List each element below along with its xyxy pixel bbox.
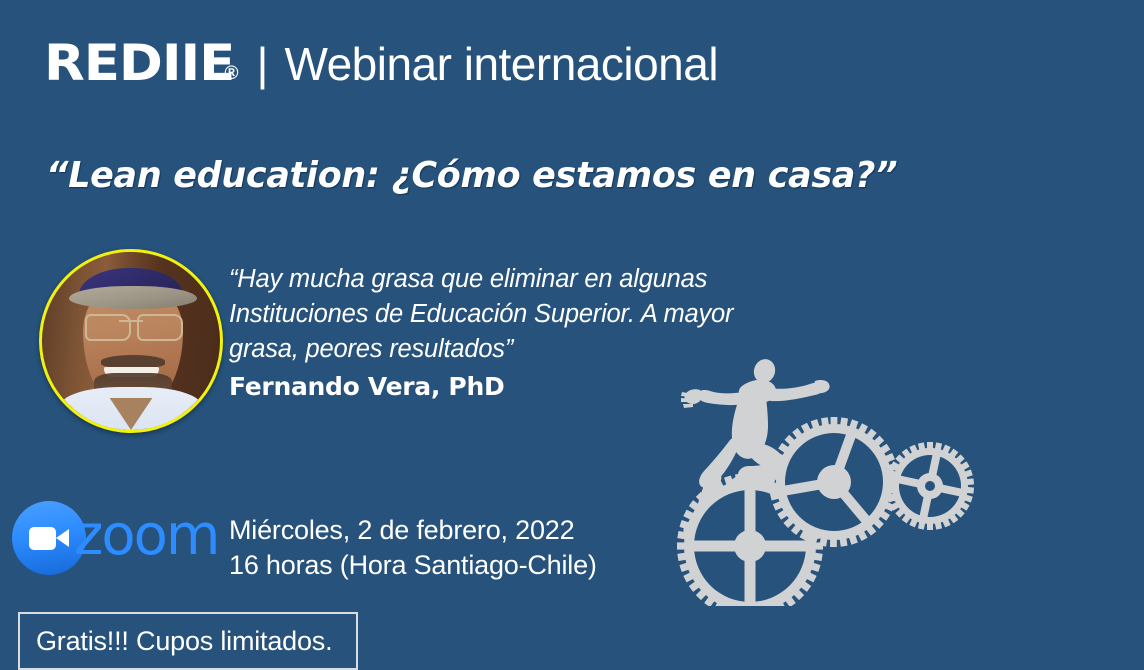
camera-body-shape	[29, 527, 56, 550]
mustache-shape	[101, 355, 165, 367]
speaker-name: Fernando Vera, PhD	[229, 372, 504, 401]
zoom-wordmark: zoom	[74, 508, 218, 564]
schedule-date: Miércoles, 2 de febrero, 2022	[229, 513, 597, 548]
glasses-bridge-shape	[119, 320, 144, 322]
speaker-quote: “Hay mucha grasa que eliminar en algunas…	[229, 262, 809, 367]
schedule-time: 16 horas (Hora Santiago-Chile)	[229, 548, 597, 583]
lens-right-shape	[137, 314, 183, 341]
gear-small-icon	[886, 442, 974, 530]
registered-trademark-icon: ®	[225, 63, 239, 85]
free-notice-box: Gratis!!! Cupos limitados.	[18, 612, 358, 670]
header: REDIIE® | Webinar internacional	[44, 38, 718, 88]
header-title: Webinar internacional	[284, 41, 718, 87]
camera-lens-shape	[56, 529, 69, 547]
lens-left-shape	[85, 314, 131, 341]
free-notice-text: Gratis!!! Cupos limitados.	[36, 626, 332, 657]
webinar-flyer: REDIIE® | Webinar internacional “Lean ed…	[0, 0, 1144, 664]
zoom-logo: zoom	[12, 500, 212, 576]
speaker-avatar	[39, 249, 223, 433]
gear-medium-icon	[769, 417, 899, 547]
runner-on-gears-artwork	[672, 356, 992, 606]
glasses-shape	[85, 314, 183, 337]
schedule: Miércoles, 2 de febrero, 2022 16 horas (…	[229, 513, 597, 583]
camera-glyph	[29, 527, 69, 550]
header-separator: |	[257, 41, 269, 87]
page-title: “Lean education: ¿Cómo estamos en casa?”	[46, 155, 897, 196]
rediie-logo: REDIIE	[44, 38, 234, 88]
hat-brim-shape	[69, 286, 197, 309]
speaker-photo	[42, 252, 220, 430]
